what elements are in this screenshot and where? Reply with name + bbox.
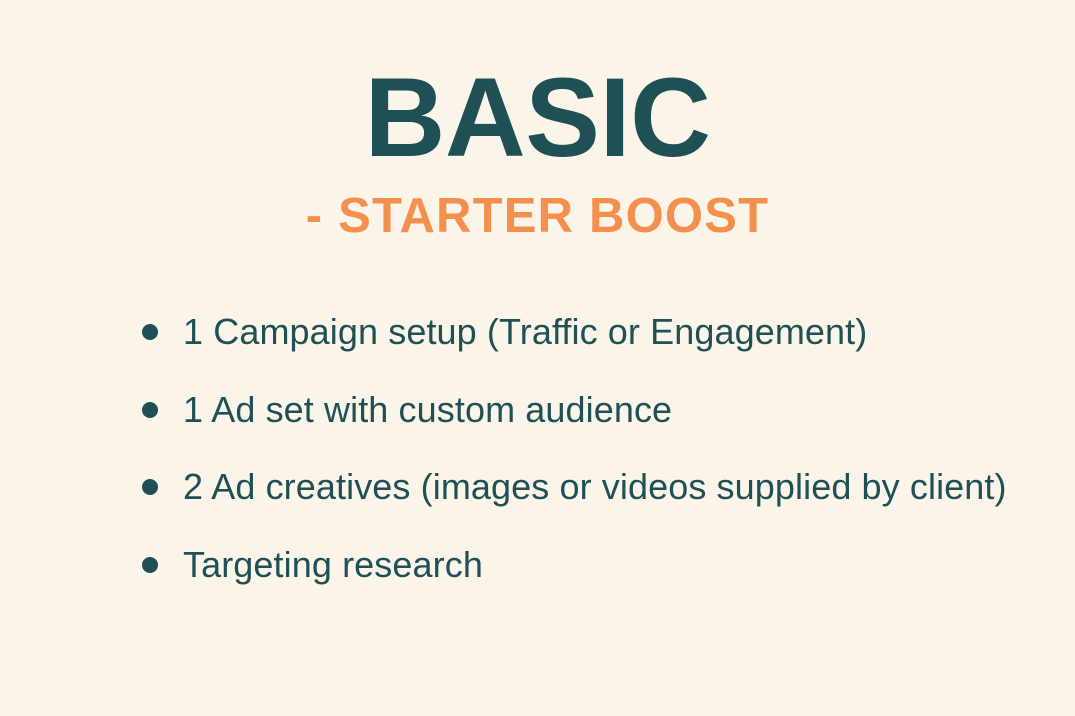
feature-item-label: 2 Ad creatives (images or videos supplie… — [183, 462, 1019, 512]
feature-item-label: Targeting research — [183, 540, 1019, 590]
bullet-dot-icon — [142, 402, 158, 418]
feature-list: 1 Campaign setup (Traffic or Engagement)… — [139, 307, 1019, 590]
list-item: 1 Ad set with custom audience — [139, 385, 1019, 435]
list-item: 1 Campaign setup (Traffic or Engagement) — [139, 307, 1019, 357]
bullet-dot-icon — [142, 557, 158, 573]
plan-title: BASIC — [0, 62, 1075, 174]
list-item: 2 Ad creatives (images or videos supplie… — [139, 462, 1019, 512]
plan-subtitle: - STARTER BOOST — [0, 192, 1075, 241]
feature-item-label: 1 Ad set with custom audience — [183, 385, 1019, 435]
list-item: Targeting research — [139, 540, 1019, 590]
heading-block: BASIC - STARTER BOOST — [0, 62, 1075, 241]
bullet-dot-icon — [142, 324, 158, 340]
feature-item-label: 1 Campaign setup (Traffic or Engagement) — [183, 307, 1019, 357]
bullet-dot-icon — [142, 479, 158, 495]
pricing-tier-slide: BASIC - STARTER BOOST 1 Campaign setup (… — [0, 0, 1075, 716]
